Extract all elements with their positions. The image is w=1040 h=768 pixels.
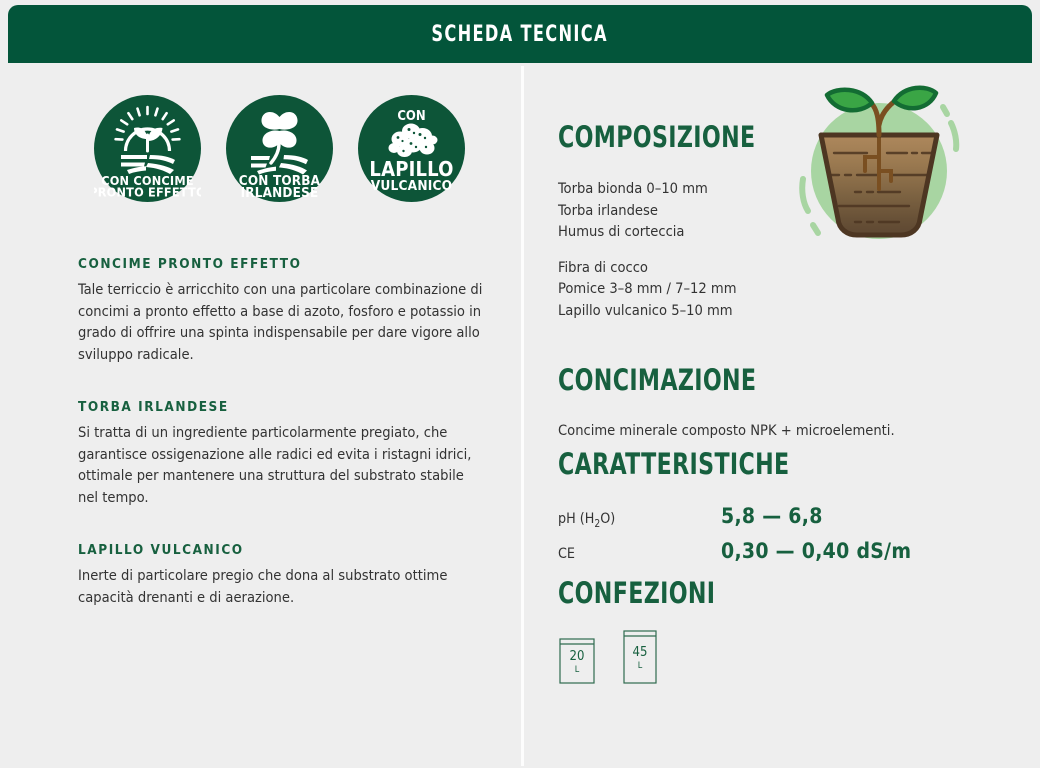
caratteristiche-value: 5,8 — 6,8 <box>721 503 911 538</box>
badge-label-top: CON <box>397 109 425 124</box>
page-title: SCHEDA TECNICA <box>432 22 608 47</box>
concimazione-body: Concime minerale composto NPK + microele… <box>558 420 895 441</box>
composizione-item: Torba irlandese <box>558 200 736 222</box>
section-title: CONCIMAZIONE <box>558 363 756 397</box>
composizione-item: Fibra di cocco <box>558 257 736 279</box>
section-concimazione: CONCIMAZIONE <box>558 363 791 397</box>
feature-block: LAPILLO VULCANICO Inerte di particolare … <box>78 542 488 608</box>
caratteristiche-key: pH (H2O) <box>558 503 721 538</box>
feature-block: CONCIME PRONTO EFFETTO Tale terriccio è … <box>78 256 488 365</box>
section-title: COMPOSIZIONE <box>558 120 755 154</box>
feature-body: Inerte di particolare pregio che dona al… <box>78 565 488 608</box>
composizione-item: Torba bionda 0–10 mm <box>558 178 736 200</box>
section-title: CARATTERISTICHE <box>558 447 790 481</box>
caratteristiche-value: 0,30 — 0,40 dS/m <box>721 538 911 567</box>
section-title: CONFEZIONI <box>558 576 715 610</box>
feature-title: TORBA IRLANDESE <box>78 399 488 415</box>
caratteristiche-row: pH (H2O) 5,8 — 6,8 <box>558 503 911 538</box>
caratteristiche-row: CE 0,30 — 0,40 dS/m <box>558 538 911 567</box>
clover-field-icon <box>251 112 308 175</box>
feature-body: Si tratta di un ingrediente particolarme… <box>78 422 488 508</box>
badge-label: CON TORBA IRLANDESE <box>239 174 321 201</box>
bag-label: 20 L <box>558 651 596 676</box>
badge-label: LAPILLO VULCANICO <box>369 157 453 194</box>
list-gap <box>558 243 736 257</box>
feature-body: Tale terriccio è arricchito con una part… <box>78 279 488 365</box>
composizione-item: Lapillo vulcanico 5–10 mm <box>558 300 736 322</box>
feature-block: TORBA IRLANDESE Si tratta di un ingredie… <box>78 399 488 508</box>
badge-con-lapillo-vulcanico: CON <box>358 95 465 202</box>
header-bar: SCHEDA TECNICA <box>8 5 1032 63</box>
sun-sprout-field-icon <box>116 107 180 174</box>
svg-text:PRONTO EFFETTO: PRONTO EFFETTO <box>94 185 201 200</box>
composizione-list: Torba bionda 0–10 mm Torba irlandese Hum… <box>558 178 736 321</box>
left-column: CON CONCIME PRONTO EFFETTO <box>0 66 521 768</box>
caratteristiche-table: pH (H2O) 5,8 — 6,8 CE 0,30 — 0,40 dS/m <box>558 503 911 567</box>
composizione-item: Pomice 3–8 mm / 7–12 mm <box>558 278 736 300</box>
section-confezioni: CONFEZIONI <box>558 576 743 610</box>
section-caratteristiche: CARATTERISTICHE <box>558 447 830 481</box>
confezioni-bags: 20 L 45 L <box>558 629 658 690</box>
pebbles-icon <box>389 124 438 158</box>
feature-blocks: CONCIME PRONTO EFFETTO Tale terriccio è … <box>78 256 488 608</box>
leaf-right <box>894 88 936 109</box>
caratteristiche-key: CE <box>558 538 721 567</box>
svg-text:CON: CON <box>397 109 425 124</box>
bag-45l: 45 L <box>622 629 658 690</box>
badge-con-torba-irlandese: CON TORBA IRLANDESE <box>226 95 333 202</box>
composizione-item: Humus di corteccia <box>558 221 736 243</box>
svg-text:IRLANDESE: IRLANDESE <box>241 186 319 201</box>
leaf-left <box>827 90 872 111</box>
badge-label: CON CONCIME PRONTO EFFETTO <box>94 173 201 200</box>
bag-20l: 20 L <box>558 637 596 690</box>
svg-text:VULCANICO: VULCANICO <box>371 178 453 194</box>
bag-label: 45 L <box>622 647 658 672</box>
right-column: COMPOSIZIONE Torba bionda 0–10 mm Torba … <box>524 66 1040 768</box>
feature-title: CONCIME PRONTO EFFETTO <box>78 256 488 272</box>
badge-row: CON CONCIME PRONTO EFFETTO <box>94 95 465 202</box>
section-composizione: COMPOSIZIONE <box>558 120 790 154</box>
badge-con-concime-pronto-effetto: CON CONCIME PRONTO EFFETTO <box>94 95 201 202</box>
feature-title: LAPILLO VULCANICO <box>78 542 488 558</box>
seedling-in-pot-illustration <box>779 79 979 264</box>
